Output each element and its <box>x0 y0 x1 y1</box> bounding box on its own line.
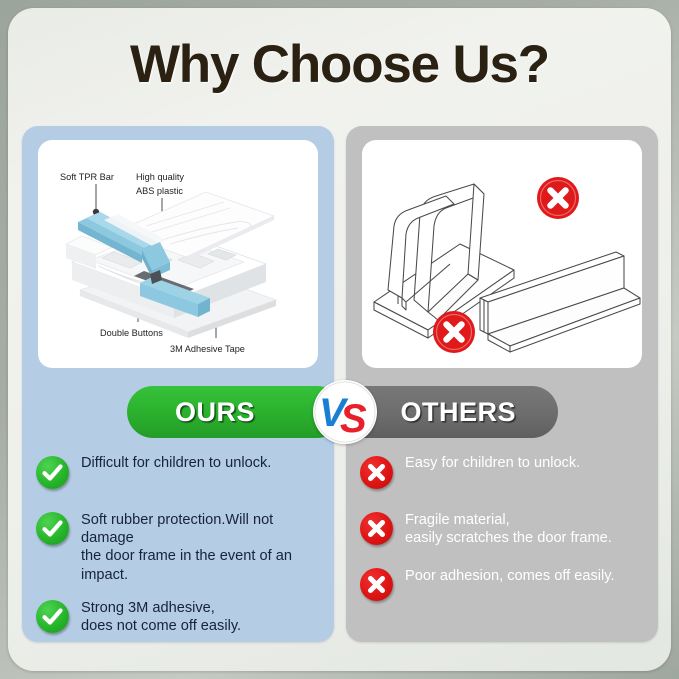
check-circle-icon <box>36 600 69 633</box>
feature-item: Fragile material, easily scratches the d… <box>360 510 648 552</box>
cross-circle-icon <box>360 568 393 601</box>
feature-text: Poor adhesion, comes off easily. <box>405 566 615 585</box>
check-circle-icon <box>36 456 69 489</box>
banner-ours-label: OURS <box>175 397 255 428</box>
cross-circle-icon <box>360 512 393 545</box>
feature-text: Soft rubber protection.Will not damage t… <box>81 510 324 584</box>
annotation-label-soft-tpr-bar: Soft TPR Bar <box>60 172 114 182</box>
vs-badge: V S <box>313 380 377 444</box>
feature-item: Soft rubber protection.Will not damage t… <box>36 510 324 584</box>
feature-list-ours: Difficult for children to unlock. Soft r… <box>36 454 324 640</box>
check-circle-icon <box>36 512 69 545</box>
annotation-label-abs-plastic-line2: ABS plastic <box>136 186 183 196</box>
feature-item: Difficult for children to unlock. <box>36 454 324 496</box>
product-illustration-ours: Soft TPR Bar High quality ABS plastic Do… <box>38 140 318 368</box>
product-illustration-others <box>362 140 642 368</box>
cross-circle-icon <box>537 177 579 219</box>
page-title: Why Choose Us? <box>8 38 671 91</box>
feature-item: Strong 3M adhesive, does not come off ea… <box>36 598 324 640</box>
feature-item: Easy for children to unlock. <box>360 454 648 496</box>
comparison-banner: OURS OTHERS V S <box>8 386 671 438</box>
others-product-image <box>362 140 642 368</box>
feature-text: Strong 3M adhesive, does not come off ea… <box>81 598 241 635</box>
feature-list-others: Easy for children to unlock. Fragile mat… <box>360 454 648 608</box>
feature-text: Fragile material, easily scratches the d… <box>405 510 612 547</box>
ours-product-image: Soft TPR Bar High quality ABS plastic Do… <box>38 140 318 368</box>
panel-ours: Soft TPR Bar High quality ABS plastic Do… <box>22 126 334 642</box>
cross-circle-icon <box>360 456 393 489</box>
cross-circle-icon <box>433 311 475 353</box>
panel-others: Easy for children to unlock. Fragile mat… <box>346 126 658 642</box>
annotation-label-double-buttons: Double Buttons <box>100 328 163 338</box>
banner-ours: OURS <box>127 386 343 438</box>
infographic-card: Why Choose Us? <box>8 8 671 671</box>
feature-text: Easy for children to unlock. <box>405 454 580 472</box>
feature-text: Difficult for children to unlock. <box>81 454 271 472</box>
banner-others-label: OTHERS <box>400 397 516 428</box>
feature-item: Poor adhesion, comes off easily. <box>360 566 648 608</box>
annotation-label-3m-adhesive-tape: 3M Adhesive Tape <box>170 344 245 354</box>
annotation-label-abs-plastic-line1: High quality <box>136 172 184 182</box>
page-title-container: Why Choose Us? <box>8 38 671 91</box>
vs-letter-s: S <box>340 397 367 441</box>
